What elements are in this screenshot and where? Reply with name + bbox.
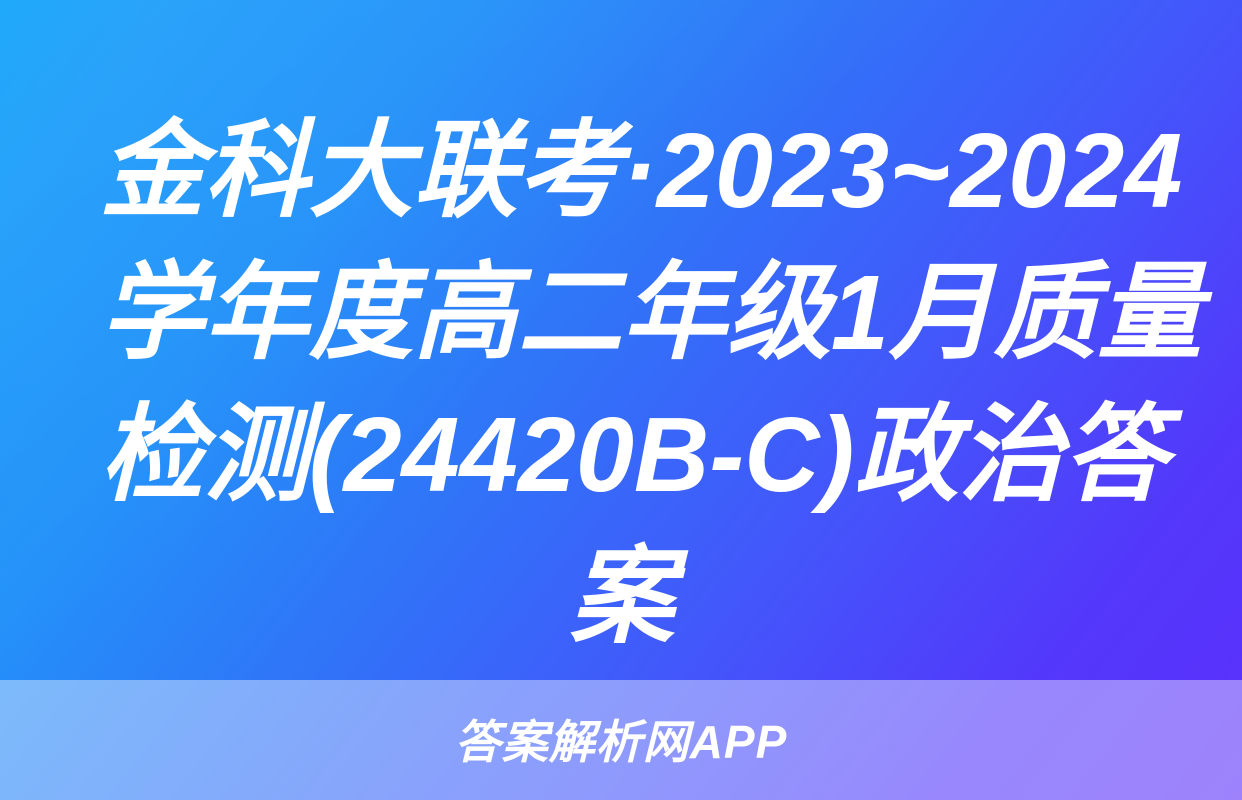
title-line-2: 学年度高二年级1月质量 xyxy=(100,242,1144,384)
title-line-1: 金科大联考·2023~2024 xyxy=(100,100,1144,242)
title-block: 金科大联考·2023~2024 学年度高二年级1月质量 检测(24420B-C)… xyxy=(100,100,1160,668)
title-line-4: 案 xyxy=(100,526,1144,668)
title-line-3: 检测(24420B-C)政治答 xyxy=(100,384,1144,526)
cover-card: 金科大联考·2023~2024 学年度高二年级1月质量 检测(24420B-C)… xyxy=(0,0,1242,800)
footer-watermark-band: 答案解析网APP xyxy=(0,680,1242,800)
footer-watermark-text: 答案解析网APP xyxy=(455,719,788,765)
